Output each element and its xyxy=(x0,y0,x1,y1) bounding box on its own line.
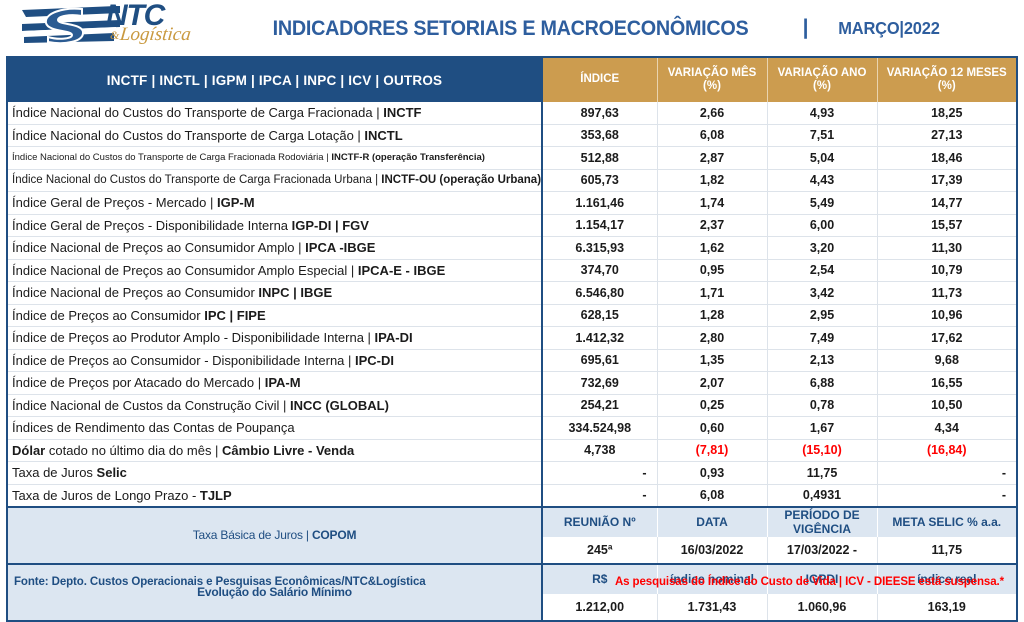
row-label: Taxa de Juros de Longo Prazo - TJLP xyxy=(7,484,542,507)
report-header: NTC & Logística INDICADORES SETORIAIS E … xyxy=(0,0,1024,56)
cell-variacao-mes: 1,82 xyxy=(657,169,767,192)
copom-header-reuniao: REUNIÃO Nº xyxy=(542,507,657,537)
cell-variacao-ano: 4,43 xyxy=(767,169,877,192)
row-label: Índice Nacional do Custos do Transporte … xyxy=(7,124,542,147)
column-header-indice: ÍNDICE xyxy=(542,57,657,102)
footer-source: Fonte: Depto. Custos Operacionais e Pesq… xyxy=(14,576,426,588)
cell-variacao-ano: 2,95 xyxy=(767,304,877,327)
page-title: INDICADORES SETORIAIS E MACROECONÔMICOS xyxy=(272,16,748,41)
cell-variacao-mes: 6,08 xyxy=(657,124,767,147)
cell-variacao-mes: 2,37 xyxy=(657,214,767,237)
column-header-variacao-mes: VARIAÇÃO MÊS (%) xyxy=(657,57,767,102)
copom-value-periodo: 17/03/2022 - xyxy=(767,537,877,564)
cell-indice: 695,61 xyxy=(542,349,657,372)
table-row: Índice Nacional de Preços ao Consumidor … xyxy=(7,282,1017,305)
ntc-logistica-logo: NTC & Logística xyxy=(14,2,200,54)
cell-variacao-12-meses: 17,39 xyxy=(877,169,1017,192)
copom-label-plain: Taxa Básica de Juros | xyxy=(193,528,312,542)
cell-variacao-12-meses: 10,50 xyxy=(877,394,1017,417)
row-label: Índice Geral de Preços - Disponibilidade… xyxy=(7,214,542,237)
row-label: Índice Nacional do Custos do Transporte … xyxy=(7,102,542,124)
cell-indice: 254,21 xyxy=(542,394,657,417)
row-label: Índice de Preços por Atacado do Mercado … xyxy=(7,372,542,395)
cell-variacao-12-meses: 11,73 xyxy=(877,282,1017,305)
cell-variacao-mes: 1,74 xyxy=(657,192,767,215)
cell-variacao-12-meses: 18,25 xyxy=(877,102,1017,124)
table-row: Dólar cotado no último dia do mês | Câmb… xyxy=(7,439,1017,462)
row-label: Índice Nacional de Preços ao Consumidor … xyxy=(7,237,542,260)
copom-value-reuniao: 245ª xyxy=(542,537,657,564)
cell-indice: 1.412,32 xyxy=(542,327,657,350)
cell-variacao-mes: (7,81) xyxy=(657,439,767,462)
table-header-row: INCTF | INCTL | IGPM | IPCA | INPC | ICV… xyxy=(7,57,1017,102)
cell-variacao-12-meses: 14,77 xyxy=(877,192,1017,215)
cell-indice: 1.154,17 xyxy=(542,214,657,237)
row-label: Índice Nacional do Custos do Transporte … xyxy=(7,147,542,170)
row-label: Índice Nacional de Preços ao Consumidor … xyxy=(7,282,542,305)
table-row: Índice Geral de Preços - Disponibilidade… xyxy=(7,214,1017,237)
row-label: Índices de Rendimento das Contas de Poup… xyxy=(7,417,542,440)
table-row: Índice Nacional do Custos do Transporte … xyxy=(7,169,1017,192)
column-header-variacao-ano: VARIAÇÃO ANO (%) xyxy=(767,57,877,102)
row-label: Índice de Preços ao Produtor Amplo - Dis… xyxy=(7,327,542,350)
cell-indice: 353,68 xyxy=(542,124,657,147)
row-label: Índice Nacional de Custos da Construção … xyxy=(7,394,542,417)
cell-variacao-ano: 0,4931 xyxy=(767,484,877,507)
table-row: Índice de Preços ao Produtor Amplo - Dis… xyxy=(7,327,1017,350)
row-label: Índice Nacional de Preços ao Consumidor … xyxy=(7,259,542,282)
cell-variacao-12-meses: 10,96 xyxy=(877,304,1017,327)
table-row: Índice Nacional do Custos do Transporte … xyxy=(7,147,1017,170)
cell-variacao-mes: 0,25 xyxy=(657,394,767,417)
table-body: Índice Nacional do Custos do Transporte … xyxy=(7,102,1017,507)
cell-variacao-12-meses: 10,79 xyxy=(877,259,1017,282)
row-label: Índice de Preços ao Consumidor IPC | FIP… xyxy=(7,304,542,327)
column-header-variacao-ano-line2: (%) xyxy=(768,80,877,93)
column-header-variacao-mes-line1: VARIAÇÃO MÊS xyxy=(658,67,767,80)
column-header-variacao-12-meses: VARIAÇÃO 12 MESES (%) xyxy=(877,57,1017,102)
cell-variacao-ano: 3,20 xyxy=(767,237,877,260)
copom-value-meta: 11,75 xyxy=(877,537,1017,564)
cell-indice: 732,69 xyxy=(542,372,657,395)
cell-variacao-mes: 2,07 xyxy=(657,372,767,395)
salario-value-igpdi: 1.060,96 xyxy=(767,594,877,621)
column-header-variacao-mes-line2: (%) xyxy=(658,80,767,93)
cell-variacao-ano: (15,10) xyxy=(767,439,877,462)
cell-variacao-ano: 0,78 xyxy=(767,394,877,417)
cell-variacao-ano: 3,42 xyxy=(767,282,877,305)
copom-header-data: DATA xyxy=(657,507,767,537)
table-row: Índice Nacional de Custos da Construção … xyxy=(7,394,1017,417)
cell-variacao-ano: 5,49 xyxy=(767,192,877,215)
cell-variacao-mes: 0,60 xyxy=(657,417,767,440)
cell-variacao-mes: 1,35 xyxy=(657,349,767,372)
table-row: Índice de Preços ao Consumidor IPC | FIP… xyxy=(7,304,1017,327)
cell-indice: 4,738 xyxy=(542,439,657,462)
cell-indice: 628,15 xyxy=(542,304,657,327)
cell-variacao-12-meses: 16,55 xyxy=(877,372,1017,395)
cell-variacao-ano: 6,88 xyxy=(767,372,877,395)
logo-ampersand: & xyxy=(110,28,119,43)
cell-variacao-mes: 0,93 xyxy=(657,462,767,485)
cell-variacao-12-meses: 4,34 xyxy=(877,417,1017,440)
cell-variacao-12-meses: 15,57 xyxy=(877,214,1017,237)
cell-indice: 334.524,98 xyxy=(542,417,657,440)
copom-header-meta: META SELIC % a.a. xyxy=(877,507,1017,537)
indicators-table: INCTF | INCTL | IGPM | IPCA | INPC | ICV… xyxy=(6,56,1018,622)
cell-indice: 605,73 xyxy=(542,169,657,192)
copom-label-bold: COPOM xyxy=(312,528,356,542)
copom-section: Taxa Básica de Juros | COPOM REUNIÃO Nº … xyxy=(7,507,1017,564)
salario-value-indice-real: 163,19 xyxy=(877,594,1017,621)
copom-subheader-row: Taxa Básica de Juros | COPOM REUNIÃO Nº … xyxy=(7,507,1017,537)
row-label: Índice Nacional do Custos do Transporte … xyxy=(7,169,542,192)
title-group: INDICADORES SETORIAIS E MACROECONÔMICOS … xyxy=(200,16,1024,41)
column-header-variacao-12-line2: (%) xyxy=(878,80,1017,93)
table-row: Índice Nacional de Preços ao Consumidor … xyxy=(7,237,1017,260)
salario-value-reais: 1.212,00 xyxy=(542,594,657,621)
cell-variacao-mes: 0,95 xyxy=(657,259,767,282)
cell-variacao-ano: 11,75 xyxy=(767,462,877,485)
cell-variacao-mes: 1,71 xyxy=(657,282,767,305)
cell-variacao-ano: 5,04 xyxy=(767,147,877,170)
copom-header-periodo: PERÍODO DE VIGÊNCIA xyxy=(767,507,877,537)
cell-variacao-ano: 7,51 xyxy=(767,124,877,147)
cell-variacao-ano: 2,54 xyxy=(767,259,877,282)
column-header-indice-line1: ÍNDICE xyxy=(543,73,657,86)
cell-variacao-mes: 2,66 xyxy=(657,102,767,124)
table-row: Índice Geral de Preços - Mercado | IGP-M… xyxy=(7,192,1017,215)
cell-indice: 374,70 xyxy=(542,259,657,282)
cell-indice: - xyxy=(542,484,657,507)
report-period: MARÇO|2022 xyxy=(838,18,939,39)
row-label: Índice de Preços ao Consumidor - Disponi… xyxy=(7,349,542,372)
cell-variacao-mes: 6,08 xyxy=(657,484,767,507)
cell-variacao-ano: 4,93 xyxy=(767,102,877,124)
cell-variacao-12-meses: 18,46 xyxy=(877,147,1017,170)
cell-indice: 6.315,93 xyxy=(542,237,657,260)
cell-variacao-ano: 1,67 xyxy=(767,417,877,440)
table-row: Índice de Preços ao Consumidor - Disponi… xyxy=(7,349,1017,372)
cell-variacao-mes: 1,28 xyxy=(657,304,767,327)
cell-indice: 512,88 xyxy=(542,147,657,170)
salario-value-indice-nominal: 1.731,43 xyxy=(657,594,767,621)
cell-variacao-12-meses: 11,30 xyxy=(877,237,1017,260)
logo-logistica-text: Logística xyxy=(119,24,192,46)
cell-variacao-mes: 2,80 xyxy=(657,327,767,350)
cell-variacao-ano: 7,49 xyxy=(767,327,877,350)
cell-variacao-12-meses: 27,13 xyxy=(877,124,1017,147)
copom-value-data: 16/03/2022 xyxy=(657,537,767,564)
cell-indice: 897,63 xyxy=(542,102,657,124)
title-separator: | xyxy=(769,16,835,40)
column-header-variacao-ano-line1: VARIAÇÃO ANO xyxy=(768,67,877,80)
table-row: Taxa de Juros de Longo Prazo - TJLP-6,08… xyxy=(7,484,1017,507)
table-index-legend: INCTF | INCTL | IGPM | IPCA | INPC | ICV… xyxy=(7,57,542,102)
cell-indice: 1.161,46 xyxy=(542,192,657,215)
cell-variacao-12-meses: - xyxy=(877,462,1017,485)
cell-variacao-ano: 6,00 xyxy=(767,214,877,237)
table-row: Índices de Rendimento das Contas de Poup… xyxy=(7,417,1017,440)
cell-indice: 6.546,80 xyxy=(542,282,657,305)
cell-variacao-mes: 2,87 xyxy=(657,147,767,170)
indicators-report-page: NTC & Logística INDICADORES SETORIAIS E … xyxy=(0,0,1024,596)
cell-variacao-ano: 2,13 xyxy=(767,349,877,372)
table-row: Índice Nacional de Preços ao Consumidor … xyxy=(7,259,1017,282)
table-row: Taxa de Juros Selic-0,9311,75- xyxy=(7,462,1017,485)
report-footer: Fonte: Depto. Custos Operacionais e Pesq… xyxy=(0,572,1024,592)
table-row: Índice de Preços por Atacado do Mercado … xyxy=(7,372,1017,395)
footer-notice: As pesquisas do Índice do Custo de Vida … xyxy=(615,576,1010,588)
cell-variacao-mes: 1,62 xyxy=(657,237,767,260)
table-row: Índice Nacional do Custos do Transporte … xyxy=(7,102,1017,124)
row-label: Índice Geral de Preços - Mercado | IGP-M xyxy=(7,192,542,215)
cell-indice: - xyxy=(542,462,657,485)
column-header-variacao-12-line1: VARIAÇÃO 12 MESES xyxy=(878,67,1017,80)
cell-variacao-12-meses: (16,84) xyxy=(877,439,1017,462)
copom-label-cell: Taxa Básica de Juros | COPOM xyxy=(7,507,542,564)
row-label: Dólar cotado no último dia do mês | Câmb… xyxy=(7,439,542,462)
cell-variacao-12-meses: 9,68 xyxy=(877,349,1017,372)
cell-variacao-12-meses: - xyxy=(877,484,1017,507)
cell-variacao-12-meses: 17,62 xyxy=(877,327,1017,350)
row-label: Taxa de Juros Selic xyxy=(7,462,542,485)
table-row: Índice Nacional do Custos do Transporte … xyxy=(7,124,1017,147)
